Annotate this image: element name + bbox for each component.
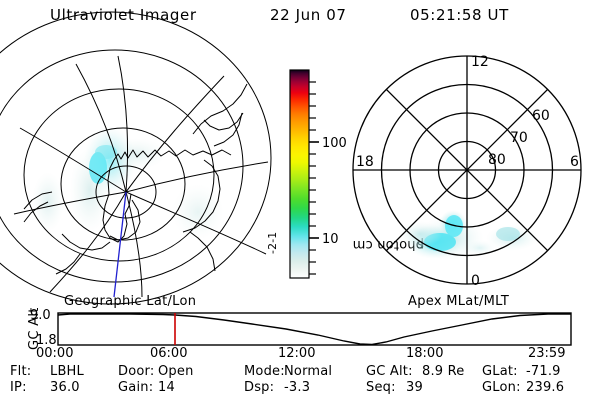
- status-key-dsp: Dsp:: [244, 380, 274, 395]
- status-value-gain: 14: [158, 380, 175, 395]
- status-value-glat: -71.9: [526, 364, 561, 379]
- apex-mlt-label-6: 6: [570, 154, 579, 170]
- status-value-dsp: -3.3: [284, 380, 310, 395]
- orbit-xtick-1: 06:00: [150, 346, 187, 361]
- apex-mlat-label-80: 80: [488, 152, 506, 168]
- observation-date: 22 Jun 07: [270, 6, 347, 24]
- status-key-door: Door:: [118, 364, 154, 379]
- status-key-mode: Mode:: [244, 364, 285, 379]
- status-field-dsp: Dsp: -3.3: [244, 380, 274, 395]
- orbit-xtick-4: 23:59: [528, 346, 565, 361]
- status-bar: Flt: LBHL IP: 36.0 Door: Open Gain: 14 M…: [0, 364, 600, 398]
- colorbar-axis-title-exp1: -2: [266, 243, 279, 254]
- status-key-gain: Gain:: [118, 380, 153, 395]
- status-value-gcalt: 8.9 Re: [422, 364, 464, 379]
- status-key-flt: Flt:: [10, 364, 31, 379]
- apex-polar-dial[interactable]: 12 6 0 18 60 70 80: [332, 42, 594, 297]
- status-field-gcalt: GC Alt: 8.9 Re: [366, 364, 413, 379]
- colorbar-axis-title-exp2: -1: [266, 232, 279, 243]
- orbit-frame: [58, 313, 571, 345]
- orbit-xtick-2: 12:00: [278, 346, 315, 361]
- status-key-glat: GLat:: [482, 364, 518, 379]
- apex-mlat-label-70: 70: [510, 130, 528, 146]
- status-key-gcalt: GC Alt:: [366, 364, 413, 379]
- apex-mlt-spokes: [353, 56, 581, 284]
- colorbar-minor-ticks: [309, 82, 316, 274]
- status-field-flt: Flt: LBHL: [10, 364, 31, 379]
- status-value-seq: 39: [406, 380, 423, 395]
- observation-time: 05:21:58 UT: [410, 6, 509, 24]
- status-field-gain: Gain: 14: [118, 380, 153, 395]
- status-field-glat: GLat: -71.9: [482, 364, 518, 379]
- status-field-ip: IP: 36.0: [10, 380, 27, 395]
- apex-mlt-label-0: 0: [471, 273, 480, 289]
- geographic-polar-image[interactable]: [18, 42, 268, 297]
- status-field-seq: Seq: 39: [366, 380, 396, 395]
- status-key-seq: Seq:: [366, 380, 396, 395]
- status-key-ip: IP:: [10, 380, 27, 395]
- status-field-glon: GLon: 239.6: [482, 380, 521, 395]
- apex-mlat-label-60: 60: [532, 108, 550, 124]
- orbit-altitude-trace: [58, 314, 571, 345]
- orbit-xtick-0: 00:00: [36, 346, 73, 361]
- status-value-flt: LBHL: [50, 364, 84, 379]
- status-field-door: Door: Open: [118, 364, 154, 379]
- orbit-xtick-3: 18:00: [406, 346, 443, 361]
- status-key-glon: GLon:: [482, 380, 521, 395]
- instrument-title: Ultraviolet Imager: [50, 6, 197, 24]
- status-field-mode: Mode: Normal: [244, 364, 285, 379]
- status-value-ip: 36.0: [50, 380, 80, 395]
- status-value-glon: 239.6: [526, 380, 564, 395]
- status-value-mode: Normal: [284, 364, 332, 379]
- header-bar: Ultraviolet Imager 22 Jun 07 05:21:58 UT: [0, 6, 600, 32]
- apex-mlt-label-12: 12: [471, 54, 489, 70]
- status-value-door: Open: [158, 364, 194, 379]
- orbit-ytick-top: 9.0: [30, 308, 51, 323]
- colorbar-gradient: [290, 70, 309, 278]
- orbit-altitude-panel[interactable]: 9.0 1.8 00:00 06:00 12:00 18:00 23:59: [0, 296, 600, 358]
- apex-mlt-label-18: 18: [356, 154, 374, 170]
- colorbar-axis-title: photon cm-2s-1: [264, 96, 282, 256]
